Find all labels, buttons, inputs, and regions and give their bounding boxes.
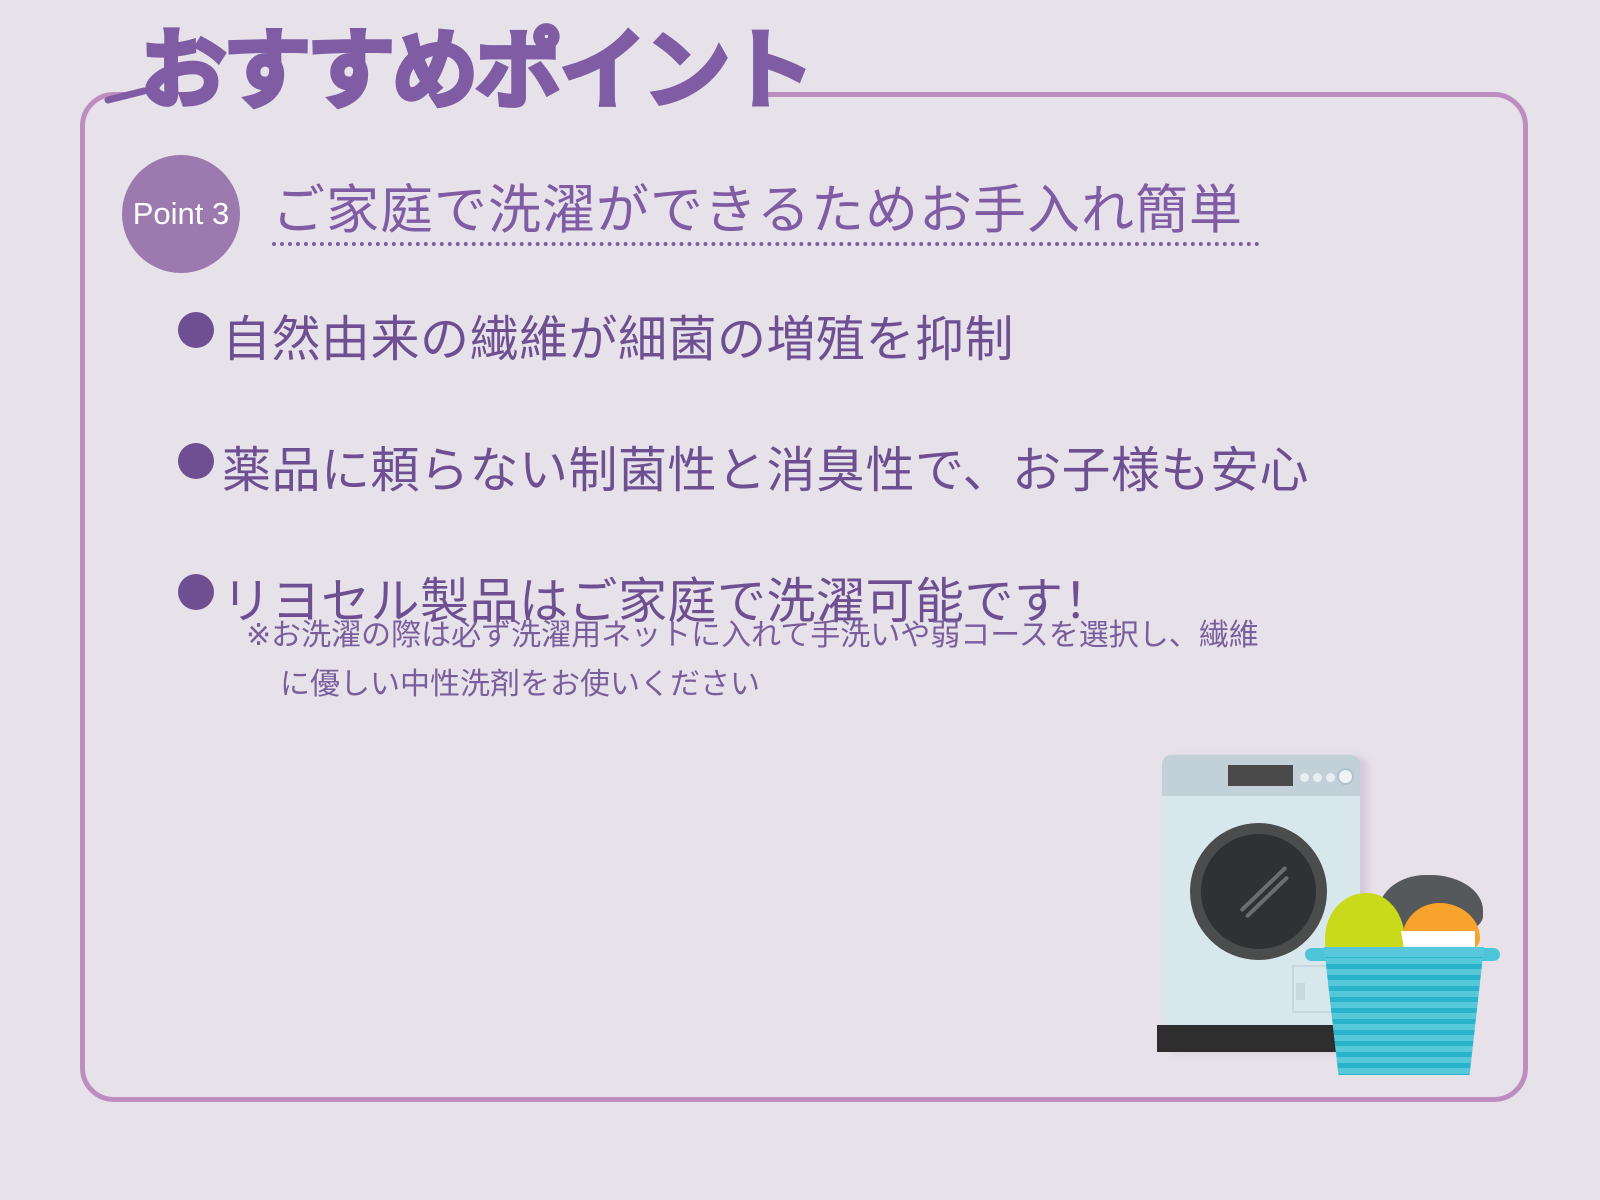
point-badge-label: Point 3 xyxy=(133,196,230,232)
footnote: ※お洗濯の際は必ず洗濯用ネットに入れて手洗いや弱コースを選択し、繊維 に優しい中… xyxy=(246,612,1436,709)
laundry-basket xyxy=(1324,947,1484,1075)
washer-indicator-dot-icon xyxy=(1313,773,1322,782)
washer-display-icon xyxy=(1228,765,1293,786)
footnote-line-1: ※お洗濯の際は必ず洗濯用ネットに入れて手洗いや弱コースを選択し、繊維 xyxy=(246,612,1436,661)
list-item: 自然由来の繊維が細菌の増殖を抑制 xyxy=(178,300,1438,371)
slide-root: おすすめポイント Point 3 ご家庭で洗濯ができるためお手入れ簡単 自然由来… xyxy=(0,0,1600,1200)
list-item: 薬品に頼らない制菌性と消臭性で、お子様も安心 xyxy=(178,431,1438,502)
page-title: おすすめポイント xyxy=(140,26,812,116)
washing-machine-illustration xyxy=(1120,735,1490,1080)
bullet-text: 自然由来の繊維が細菌の増殖を抑制 xyxy=(222,300,1014,371)
footnote-line-2: に優しい中性洗剤をお使いください xyxy=(246,661,1436,710)
bullet-dot-icon xyxy=(178,574,214,610)
heading-dotted-underline xyxy=(272,242,1260,246)
washer-knob-icon xyxy=(1337,768,1354,785)
bullet-text: 薬品に頼らない制菌性と消臭性で、お子様も安心 xyxy=(222,431,1309,502)
bullet-dot-icon xyxy=(178,312,214,348)
bullet-dot-icon xyxy=(178,443,214,479)
point-heading: ご家庭で洗濯ができるためお手入れ簡単 xyxy=(272,168,1243,244)
point-badge: Point 3 xyxy=(122,155,240,273)
washer-indicator-dot-icon xyxy=(1300,773,1309,782)
washer-indicator-dot-icon xyxy=(1326,773,1335,782)
laundry-basket-rim xyxy=(1324,947,1484,957)
washer-base xyxy=(1157,1025,1362,1052)
washer-drawer-handle-icon xyxy=(1296,983,1305,1000)
